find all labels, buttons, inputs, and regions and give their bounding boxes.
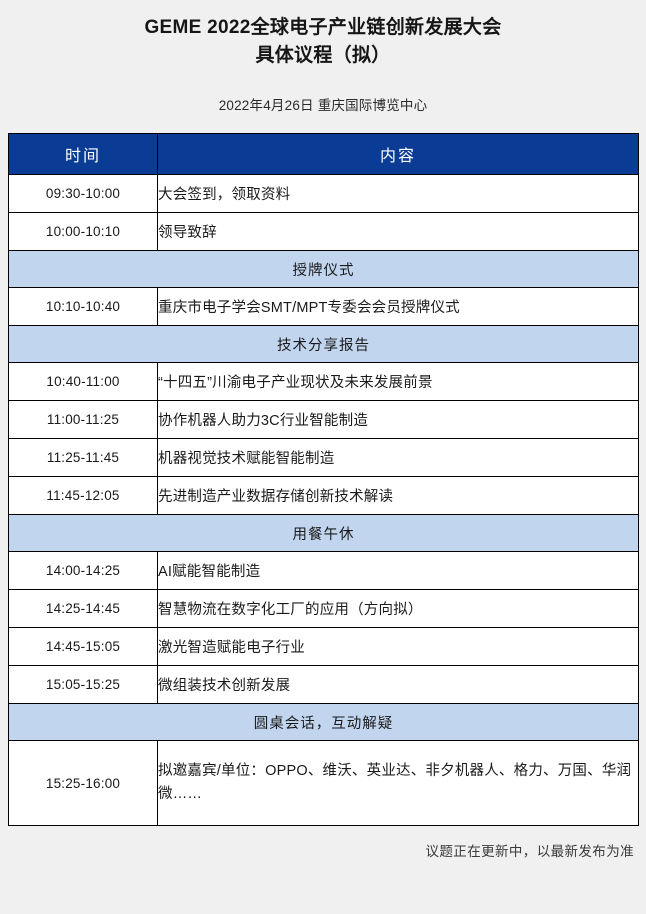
cell-time: 15:25-16:00 (9, 741, 158, 826)
table-row: 14:00-14:25AI赋能智能制造 (9, 552, 639, 590)
table-header-row: 时间 内容 (9, 134, 639, 175)
column-header-content: 内容 (158, 134, 639, 175)
page-title-line-2: 具体议程（拟） (0, 42, 646, 70)
title-block: GEME 2022全球电子产业链创新发展大会 具体议程（拟） 2022年4月26… (0, 0, 646, 133)
agenda-table-head: 时间 内容 (9, 134, 639, 175)
cell-time: 09:30-10:00 (9, 175, 158, 213)
footer: 议题正在更新中，以最新发布为准 (0, 826, 646, 914)
table-row: 15:05-15:25微组装技术创新发展 (9, 666, 639, 704)
cell-content: 大会签到，领取资料 (158, 175, 639, 213)
cell-content: 重庆市电子学会SMT/MPT专委会会员授牌仪式 (158, 288, 639, 326)
section-label: 圆桌会话，互动解疑 (9, 704, 639, 741)
section-row: 圆桌会话，互动解疑 (9, 704, 639, 741)
section-label: 用餐午休 (9, 515, 639, 552)
section-label: 技术分享报告 (9, 326, 639, 363)
cell-content: 拟邀嘉宾/单位：OPPO、维沃、英业达、非夕机器人、格力、万国、华润微…… (158, 741, 639, 826)
cell-time: 14:45-15:05 (9, 628, 158, 666)
cell-time: 11:25-11:45 (9, 439, 158, 477)
table-row: 10:40-11:00“十四五”川渝电子产业现状及未来发展前景 (9, 363, 639, 401)
cell-time: 10:40-11:00 (9, 363, 158, 401)
cell-time: 14:00-14:25 (9, 552, 158, 590)
cell-time: 14:25-14:45 (9, 590, 158, 628)
agenda-table: 时间 内容 09:30-10:00大会签到，领取资料10:00-10:10领导致… (8, 133, 639, 826)
cell-content: 协作机器人助力3C行业智能制造 (158, 401, 639, 439)
event-date-venue: 2022年4月26日 重庆国际博览中心 (0, 94, 646, 114)
table-row: 10:00-10:10领导致辞 (9, 213, 639, 251)
cell-content: 微组装技术创新发展 (158, 666, 639, 704)
table-row: 09:30-10:00大会签到，领取资料 (9, 175, 639, 213)
table-row: 11:45-12:05先进制造产业数据存储创新技术解读 (9, 477, 639, 515)
section-row: 技术分享报告 (9, 326, 639, 363)
section-row: 用餐午休 (9, 515, 639, 552)
cell-content: 先进制造产业数据存储创新技术解读 (158, 477, 639, 515)
cell-content: 激光智造赋能电子行业 (158, 628, 639, 666)
cell-time: 11:45-12:05 (9, 477, 158, 515)
agenda-table-body: 09:30-10:00大会签到，领取资料10:00-10:10领导致辞授牌仪式1… (9, 175, 639, 826)
cell-content: 机器视觉技术赋能智能制造 (158, 439, 639, 477)
cell-content: AI赋能智能制造 (158, 552, 639, 590)
page-title-line-1: GEME 2022全球电子产业链创新发展大会 (0, 14, 646, 42)
cell-time: 11:00-11:25 (9, 401, 158, 439)
cell-content: “十四五”川渝电子产业现状及未来发展前景 (158, 363, 639, 401)
section-label: 授牌仪式 (9, 251, 639, 288)
section-row: 授牌仪式 (9, 251, 639, 288)
cell-time: 10:00-10:10 (9, 213, 158, 251)
column-header-time: 时间 (9, 134, 158, 175)
table-row: 15:25-16:00拟邀嘉宾/单位：OPPO、维沃、英业达、非夕机器人、格力、… (9, 741, 639, 826)
table-row: 10:10-10:40重庆市电子学会SMT/MPT专委会会员授牌仪式 (9, 288, 639, 326)
table-row: 11:25-11:45机器视觉技术赋能智能制造 (9, 439, 639, 477)
table-row: 14:25-14:45智慧物流在数字化工厂的应用（方向拟） (9, 590, 639, 628)
cell-time: 15:05-15:25 (9, 666, 158, 704)
cell-content: 领导致辞 (158, 213, 639, 251)
cell-time: 10:10-10:40 (9, 288, 158, 326)
table-row: 14:45-15:05激光智造赋能电子行业 (9, 628, 639, 666)
cell-content: 智慧物流在数字化工厂的应用（方向拟） (158, 590, 639, 628)
footer-note: 议题正在更新中，以最新发布为准 (426, 844, 635, 859)
agenda-table-wrapper: 时间 内容 09:30-10:00大会签到，领取资料10:00-10:10领导致… (0, 133, 646, 826)
agenda-page: GEME 2022全球电子产业链创新发展大会 具体议程（拟） 2022年4月26… (0, 0, 646, 914)
table-row: 11:00-11:25协作机器人助力3C行业智能制造 (9, 401, 639, 439)
